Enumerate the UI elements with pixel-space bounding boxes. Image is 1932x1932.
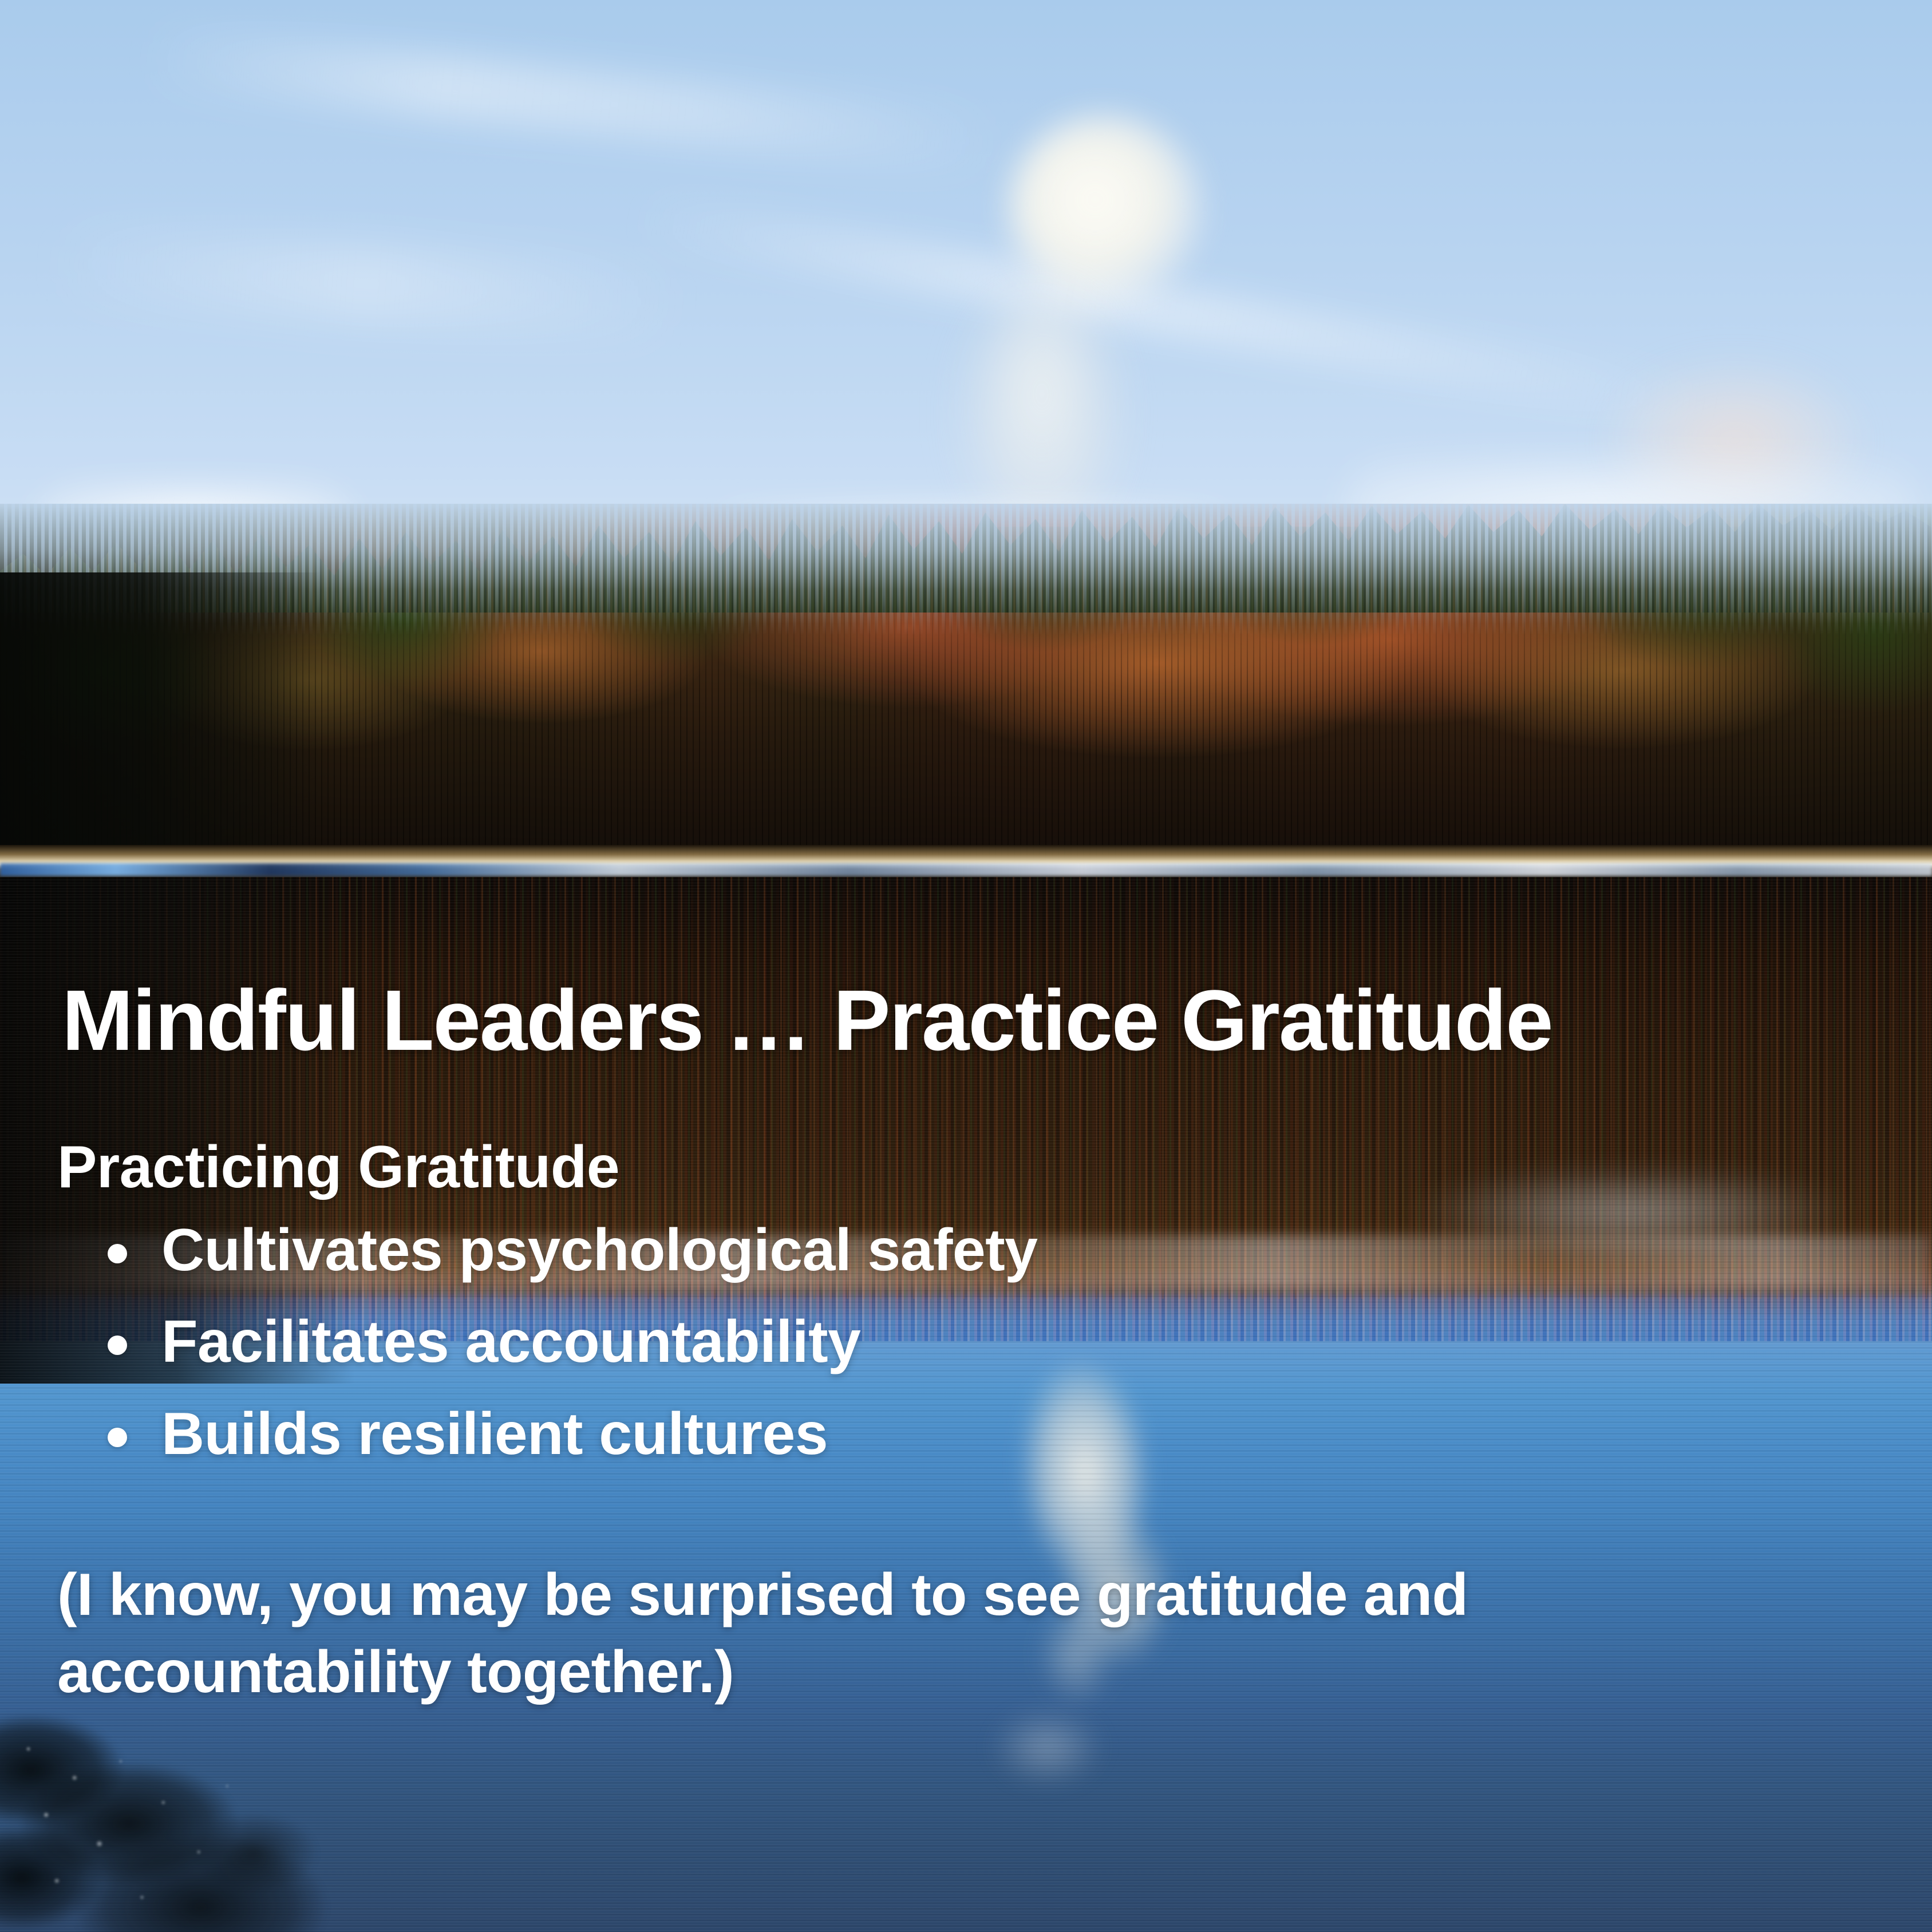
parenthetical-note: (I know, you may be surprised to see gra… xyxy=(57,1556,1752,1711)
list-item: Cultivates psychological safety xyxy=(57,1214,1832,1287)
slide-title: Mindful Leaders … Practice Gratitude xyxy=(62,974,1552,1066)
bullet-dot-icon xyxy=(108,1336,127,1355)
body-lead-heading: Practicing Gratitude xyxy=(57,1133,1832,1202)
list-item: Builds resilient cultures xyxy=(57,1398,1832,1471)
list-item-label: Cultivates psychological safety xyxy=(161,1214,1037,1287)
list-item-label: Facilitates accountability xyxy=(161,1306,860,1378)
slide-content: Mindful Leaders … Practice Gratitude Pra… xyxy=(0,0,1932,1932)
slide-body: Practicing Gratitude Cultivates psycholo… xyxy=(57,1133,1832,1712)
slide-canvas: Mindful Leaders … Practice Gratitude Pra… xyxy=(0,0,1932,1932)
benefits-list: Cultivates psychological safety Facilita… xyxy=(57,1214,1832,1471)
bullet-dot-icon xyxy=(108,1428,127,1447)
list-item-label: Builds resilient cultures xyxy=(161,1398,828,1471)
list-item: Facilitates accountability xyxy=(57,1306,1832,1378)
bullet-dot-icon xyxy=(108,1244,127,1263)
